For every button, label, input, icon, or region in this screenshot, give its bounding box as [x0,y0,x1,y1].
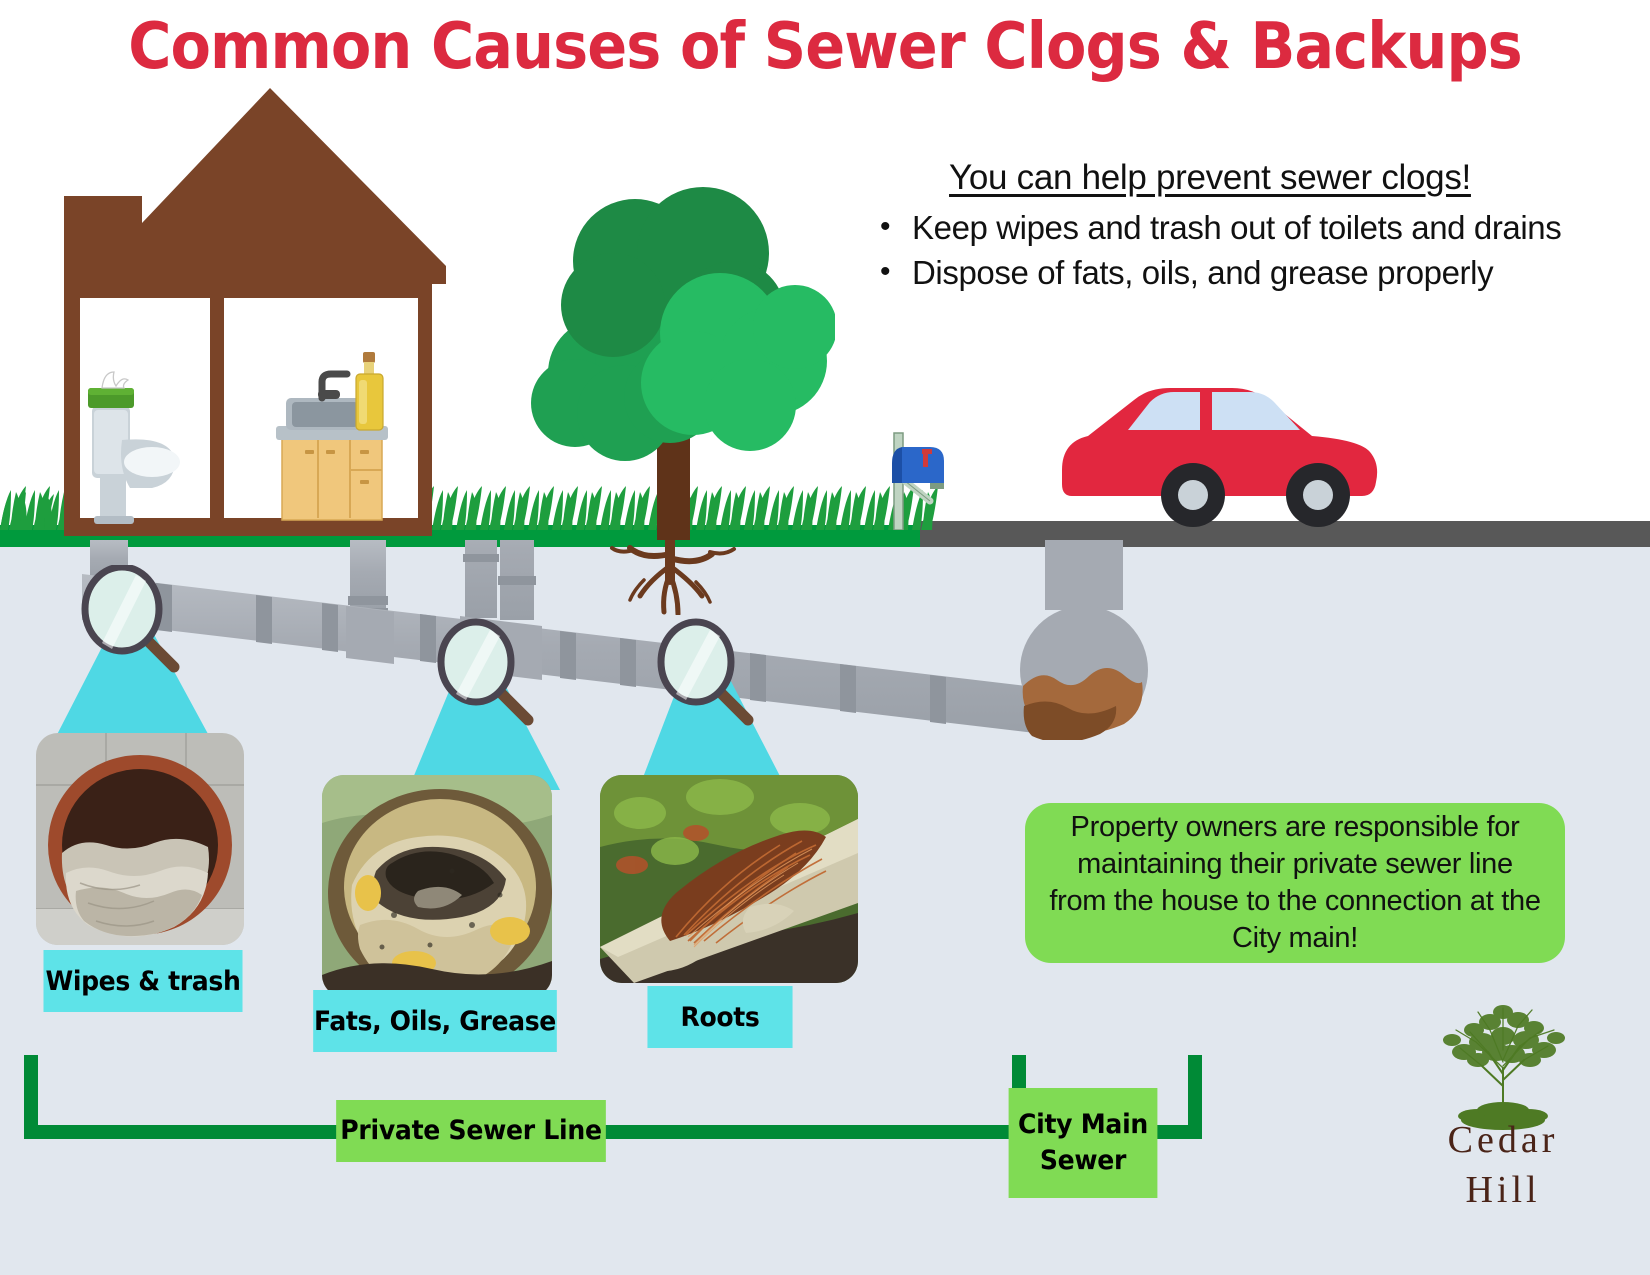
bracket-right-tick [1188,1055,1202,1137]
prevention-item-text: Keep wipes and trash out of toilets and … [912,209,1561,246]
label-city-main-line2: Sewer [1040,1143,1126,1179]
magnifying-glass-icon[interactable] [78,565,188,675]
prevention-block: You can help prevent sewer clogs! •Keep … [840,158,1580,296]
photo-fats-oils-grease [322,775,552,997]
photo-wipes-and-trash [36,733,244,945]
infographic-canvas: Common Causes of Sewer Clogs & Backups [0,0,1650,1275]
label-city-main-line1: City Main [1018,1107,1148,1143]
mailbox-icon [878,415,948,530]
photo-roots [600,775,858,983]
logo-text-cedar: Cedar [1378,1118,1628,1162]
page-title: Common Causes of Sewer Clogs & Backups [66,10,1584,84]
red-car-icon [1050,340,1380,535]
label-fats-oils-grease: Fats, Oils, Grease [313,990,557,1052]
list-item: •Keep wipes and trash out of toilets and… [876,206,1580,251]
magnifying-glass-icon[interactable] [432,618,542,728]
prevention-item-text: Dispose of fats, oils, and grease proper… [912,254,1493,291]
bullet-icon: • [880,207,890,246]
manhole-cleanout-icon [1020,540,1148,740]
prevention-list: •Keep wipes and trash out of toilets and… [840,206,1580,296]
house-cutaway-icon [60,88,450,536]
list-item: •Dispose of fats, oils, and grease prope… [876,251,1580,296]
label-roots: Roots [647,986,792,1048]
tree-icon [505,165,835,540]
bullet-icon: • [880,252,890,291]
label-private-sewer-line: Private Sewer Line [336,1100,606,1162]
cedar-hill-logo: Cedar Hill [1378,990,1628,1265]
prevention-heading: You can help prevent sewer clogs! [840,158,1580,198]
cedar-tree-icon [1378,990,1628,1130]
label-wipes-and-trash: Wipes & trash [43,950,242,1012]
magnifying-glass-icon[interactable] [652,618,762,728]
responsibility-note: Property owners are responsible for main… [1025,803,1565,963]
logo-text-hill: Hill [1378,1168,1628,1212]
label-city-main-sewer: City Main Sewer [1009,1088,1158,1198]
